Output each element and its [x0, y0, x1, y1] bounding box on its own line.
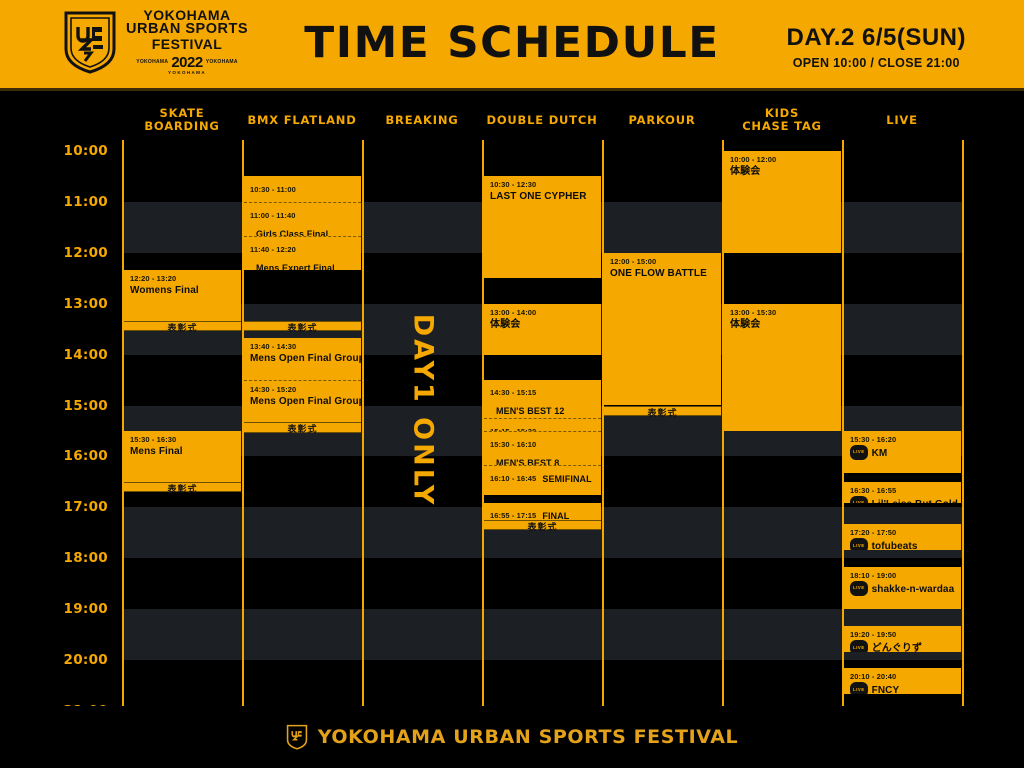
- event-name: 体験会: [730, 166, 836, 178]
- live-badge-icon: LIVE: [850, 640, 868, 651]
- schedule-event[interactable]: 12:00 - 15:00ONE FLOW BATTLE: [604, 253, 721, 406]
- page-header: YOKOHAMA URBAN SPORTS FESTIVAL YOKOHAMA …: [0, 0, 1024, 88]
- time-axis-label: 11:00: [50, 194, 108, 210]
- schedule-event[interactable]: 13:40 - 14:30Mens Open Final Group A: [244, 338, 361, 380]
- schedule-event[interactable]: 14:30 - 15:20Mens Open Final Group B: [244, 380, 361, 422]
- event-time: 20:10 - 20:40: [850, 672, 956, 681]
- event-name: ONE FLOW BATTLE: [610, 268, 716, 280]
- event-time: 15:30 - 16:30: [130, 435, 236, 444]
- event-time: 18:10 - 19:00: [850, 571, 956, 580]
- event-name: Mens Open Final Group A: [250, 353, 356, 365]
- event-time: 16:30 - 16:55: [850, 486, 956, 495]
- time-axis-label: 18:00: [50, 550, 108, 566]
- live-badge-icon: LIVE: [850, 581, 868, 596]
- logo-sub: YOKOHAMA: [168, 71, 206, 76]
- column-header-live[interactable]: LIVE: [842, 114, 962, 127]
- award-ceremony-block[interactable]: 表彰式: [124, 321, 241, 331]
- event-time: 12:20 - 13:20: [130, 274, 236, 283]
- time-axis-label: 14:00: [50, 347, 108, 363]
- schedule-event[interactable]: 15:15 - 15:30WOMEN'S BEST 6: [484, 418, 601, 431]
- column-header-skateboarding[interactable]: SKATEBOARDING: [122, 107, 242, 132]
- schedule-column-parkour: 12:00 - 15:00ONE FLOW BATTLE表彰式: [604, 140, 721, 706]
- live-badge-icon: LIVE: [850, 445, 868, 460]
- header-divider: [0, 88, 1024, 91]
- event-name: Mens Final: [130, 446, 236, 458]
- schedule-column-kids-chase-tag: 10:00 - 12:00体験会13:00 - 15:30体験会: [724, 140, 841, 706]
- event-name: LIVEtofubeats: [850, 539, 956, 549]
- event-time: 13:00 - 15:30: [730, 308, 836, 317]
- schedule-event[interactable]: 12:20 - 13:20Womens Final: [124, 270, 241, 321]
- column-header-bmx-flatland[interactable]: BMX FLATLAND: [242, 114, 362, 127]
- event-time: 14:30 - 15:15: [490, 388, 536, 397]
- yusf-shield-footer-icon: [286, 724, 308, 750]
- event-name: 体験会: [730, 319, 836, 331]
- schedule-event[interactable]: 15:30 - 16:20LIVEKM: [844, 431, 961, 473]
- event-name: Mens Expert Final: [256, 262, 335, 270]
- event-name: LAST ONE CYPHER: [490, 191, 596, 203]
- schedule-column-breaking: DAY1 ONLY: [364, 140, 481, 706]
- schedule-event[interactable]: 16:10 - 16:45SEMIFINAL: [484, 465, 601, 495]
- schedule-event[interactable]: 11:40 - 12:20Mens Expert Final: [244, 236, 361, 270]
- event-time: 16:10 - 16:45: [490, 474, 536, 483]
- event-time: 13:00 - 14:00: [490, 308, 596, 317]
- column-header-line: KIDS: [722, 107, 842, 120]
- schedule-event[interactable]: 13:00 - 15:30体験会: [724, 304, 841, 431]
- column-header-line: LIVE: [842, 114, 962, 127]
- event-name: MEN'S BEST 8: [496, 457, 559, 465]
- day1-only-label: DAY1 ONLY: [407, 313, 438, 507]
- time-axis-label: 20:00: [50, 652, 108, 668]
- column-header-line: PARKOUR: [602, 114, 722, 127]
- event-time: 15:30 - 16:20: [850, 435, 956, 444]
- column-header-line: CHASE TAG: [722, 120, 842, 133]
- day-info: DAY.2 6/5(SUN) OPEN 10:00 / CLOSE 21:00: [786, 24, 966, 70]
- event-time: 19:20 - 19:50: [850, 630, 956, 639]
- event-time: 15:30 - 16:10: [490, 440, 536, 449]
- column-header-kids-chase-tag[interactable]: KIDSCHASE TAG: [722, 107, 842, 132]
- schedule-column-bmx-flatland: 10:30 - 11:00Mens Novice Final11:00 - 11…: [244, 140, 361, 706]
- page-footer: YOKOHAMA URBAN SPORTS FESTIVAL: [0, 706, 1024, 768]
- column-headers: SKATEBOARDINGBMX FLATLANDBREAKINGDOUBLE …: [0, 104, 1024, 136]
- event-time: 13:40 - 14:30: [250, 342, 356, 351]
- time-axis-label: 19:00: [50, 601, 108, 617]
- schedule-event[interactable]: 20:10 - 20:40LIVEFNCY: [844, 668, 961, 693]
- event-name: FINAL: [542, 510, 569, 520]
- schedule-event[interactable]: 15:30 - 16:10MEN'S BEST 8: [484, 431, 601, 465]
- footer-title: YOKOHAMA URBAN SPORTS FESTIVAL: [318, 726, 739, 748]
- event-time: 11:40 - 12:20: [250, 245, 296, 254]
- day1-only-note: DAY1 ONLY: [364, 290, 481, 530]
- schedule-event[interactable]: 16:55 - 17:15FINAL: [484, 503, 601, 520]
- schedule-event[interactable]: 17:20 - 17:50LIVEtofubeats: [844, 524, 961, 549]
- award-ceremony-block[interactable]: 表彰式: [604, 406, 721, 416]
- event-name: Womens Final: [130, 285, 236, 297]
- schedule-column-double-dutch: 10:30 - 12:30LAST ONE CYPHER13:00 - 14:0…: [484, 140, 601, 706]
- live-badge-icon: LIVE: [850, 538, 868, 549]
- event-name: LIVEshakke-n-wardaa: [850, 582, 956, 597]
- award-ceremony-block[interactable]: 表彰式: [124, 482, 241, 492]
- schedule-event[interactable]: 13:00 - 14:00体験会: [484, 304, 601, 355]
- column-header-line: DOUBLE DUTCH: [482, 114, 602, 127]
- live-badge-icon: LIVE: [850, 496, 868, 503]
- event-time: 16:55 - 17:15: [490, 511, 536, 520]
- time-axis-label: 10:00: [50, 143, 108, 159]
- award-ceremony-block[interactable]: 表彰式: [244, 422, 361, 432]
- schedule-event[interactable]: 10:30 - 12:30LAST ONE CYPHER: [484, 176, 601, 278]
- schedule-event[interactable]: 15:30 - 16:30Mens Final: [124, 431, 241, 482]
- time-axis-label: 13:00: [50, 296, 108, 312]
- event-name: LIVELil'Leise But Gold: [850, 497, 956, 503]
- schedule-event[interactable]: 19:20 - 19:50LIVEどんぐりず: [844, 626, 961, 651]
- schedule-event[interactable]: 16:30 - 16:55LIVELil'Leise But Gold: [844, 482, 961, 503]
- day-label: DAY.2 6/5(SUN): [786, 24, 966, 52]
- time-axis-label: 12:00: [50, 245, 108, 261]
- event-time: 12:00 - 15:00: [610, 257, 716, 266]
- time-axis-label: 17:00: [50, 499, 108, 515]
- schedule-column-live: 15:30 - 16:20LIVEKM16:30 - 16:55LIVELil'…: [844, 140, 961, 706]
- event-name: LIVEどんぐりず: [850, 641, 956, 651]
- schedule-event[interactable]: 10:00 - 12:00体験会: [724, 151, 841, 253]
- event-time: 10:30 - 11:00: [250, 185, 296, 194]
- schedule-event[interactable]: 14:30 - 15:15MEN'S BEST 12: [484, 380, 601, 418]
- column-divider: [962, 140, 964, 706]
- open-close-label: OPEN 10:00 / CLOSE 21:00: [786, 56, 966, 70]
- schedule-event[interactable]: 10:30 - 11:00Mens Novice Final: [244, 176, 361, 201]
- schedule-event[interactable]: 18:10 - 19:00LIVEshakke-n-wardaa: [844, 567, 961, 609]
- event-time: 10:00 - 12:00: [730, 155, 836, 164]
- column-header-double-dutch[interactable]: DOUBLE DUTCH: [482, 114, 602, 127]
- column-header-breaking[interactable]: BREAKING: [362, 114, 482, 127]
- schedule-event[interactable]: 11:00 - 11:40Girls Class Final: [244, 202, 361, 236]
- column-header-parkour[interactable]: PARKOUR: [602, 114, 722, 127]
- award-ceremony-block[interactable]: 表彰式: [244, 321, 361, 331]
- column-header-line: SKATE: [122, 107, 242, 120]
- column-header-line: BOARDING: [122, 120, 242, 133]
- event-time: 17:20 - 17:50: [850, 528, 956, 537]
- event-time: 10:30 - 12:30: [490, 180, 596, 189]
- live-badge-icon: LIVE: [850, 682, 868, 693]
- event-name: MEN'S BEST 12: [496, 405, 564, 417]
- event-name: SEMIFINAL: [542, 473, 591, 485]
- time-axis-label: 15:00: [50, 398, 108, 414]
- award-ceremony-block[interactable]: 表彰式: [484, 520, 601, 530]
- schedule-column-skateboarding: 12:20 - 13:20Womens Final表彰式15:30 - 16:3…: [124, 140, 241, 706]
- time-axis-label: 16:00: [50, 448, 108, 464]
- event-name: LIVEKM: [850, 446, 956, 461]
- event-name: Girls Class Final: [256, 228, 328, 236]
- event-name: 体験会: [490, 319, 596, 331]
- event-name: LIVEFNCY: [850, 683, 956, 693]
- event-name: Mens Open Final Group B: [250, 396, 356, 408]
- schedule-grid: 10:0011:0012:0013:0014:0015:0016:0017:00…: [0, 140, 1024, 706]
- column-header-line: BREAKING: [362, 114, 482, 127]
- column-header-line: BMX FLATLAND: [242, 114, 362, 127]
- event-time: 14:30 - 15:20: [250, 385, 356, 394]
- event-time: 11:00 - 11:40: [250, 211, 296, 220]
